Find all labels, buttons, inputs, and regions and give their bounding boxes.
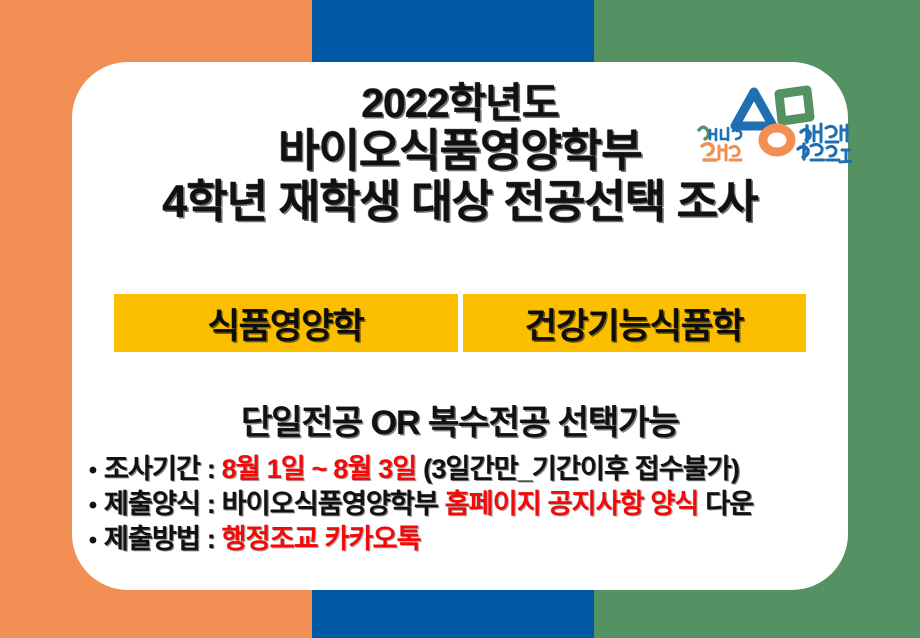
list-item-text: 조사기간 : 8월 1일 ~ 8월 3일 (3일간만_기간이후 접수불가) xyxy=(104,447,739,486)
bullet-dot-icon: • xyxy=(82,529,104,553)
title-line-3: 4학년 재학생 대상 전공선택 조사 xyxy=(72,177,848,228)
text-segment-highlight: 8월 1일 ~ 8월 3일 xyxy=(222,454,424,484)
major-option-food-nutrition[interactable]: 식품영양학 xyxy=(114,294,458,352)
logo-university-text xyxy=(798,124,852,162)
semyung-university-logo xyxy=(697,70,852,170)
content-card: 2022학년도 바이오식품영양학부 4학년 재학생 대상 전공선택 조사 xyxy=(72,62,848,590)
text-segment: 제출양식 : 바이오식품영양학부 xyxy=(104,489,445,519)
list-item-submission-method: • 제출방법 : 행정조교 카카오톡 xyxy=(82,517,842,552)
logo-triangle-icon xyxy=(735,92,773,126)
logo-tagline-text xyxy=(699,127,741,160)
list-item-survey-period: • 조사기간 : 8월 1일 ~ 8월 3일 (3일간만_기간이후 접수불가) xyxy=(82,447,842,482)
text-segment: (3일간만_기간이후 접수불가) xyxy=(423,454,739,484)
logo-circle-icon xyxy=(763,128,791,152)
bullet-dot-icon: • xyxy=(82,494,104,518)
subtitle-text: 단일전공 OR 복수전공 선택가능 xyxy=(72,395,848,444)
logo-square-icon xyxy=(779,90,810,121)
list-item-text: 제출방법 : 행정조교 카카오톡 xyxy=(104,517,421,556)
bullet-dot-icon: • xyxy=(82,459,104,483)
list-item-text: 제출양식 : 바이오식품영양학부 홈페이지 공지사항 양식 다운 xyxy=(104,482,753,521)
poster-root: 2022학년도 바이오식품영양학부 4학년 재학생 대상 전공선택 조사 xyxy=(0,0,920,638)
text-segment: 다운 xyxy=(705,489,753,519)
major-options-group: 식품영양학 건강기능식품학 xyxy=(114,294,806,352)
text-segment: 조사기간 : xyxy=(104,454,222,484)
list-item-submission-form: • 제출양식 : 바이오식품영양학부 홈페이지 공지사항 양식 다운 xyxy=(82,482,842,517)
major-option-health-functional-food[interactable]: 건강기능식품학 xyxy=(463,294,807,352)
text-segment-highlight: 홈페이지 공지사항 양식 xyxy=(445,489,706,519)
text-segment-highlight: 행정조교 카카오톡 xyxy=(222,524,421,554)
details-list: • 조사기간 : 8월 1일 ~ 8월 3일 (3일간만_기간이후 접수불가) … xyxy=(82,447,842,552)
text-segment: 제출방법 : xyxy=(104,524,222,554)
